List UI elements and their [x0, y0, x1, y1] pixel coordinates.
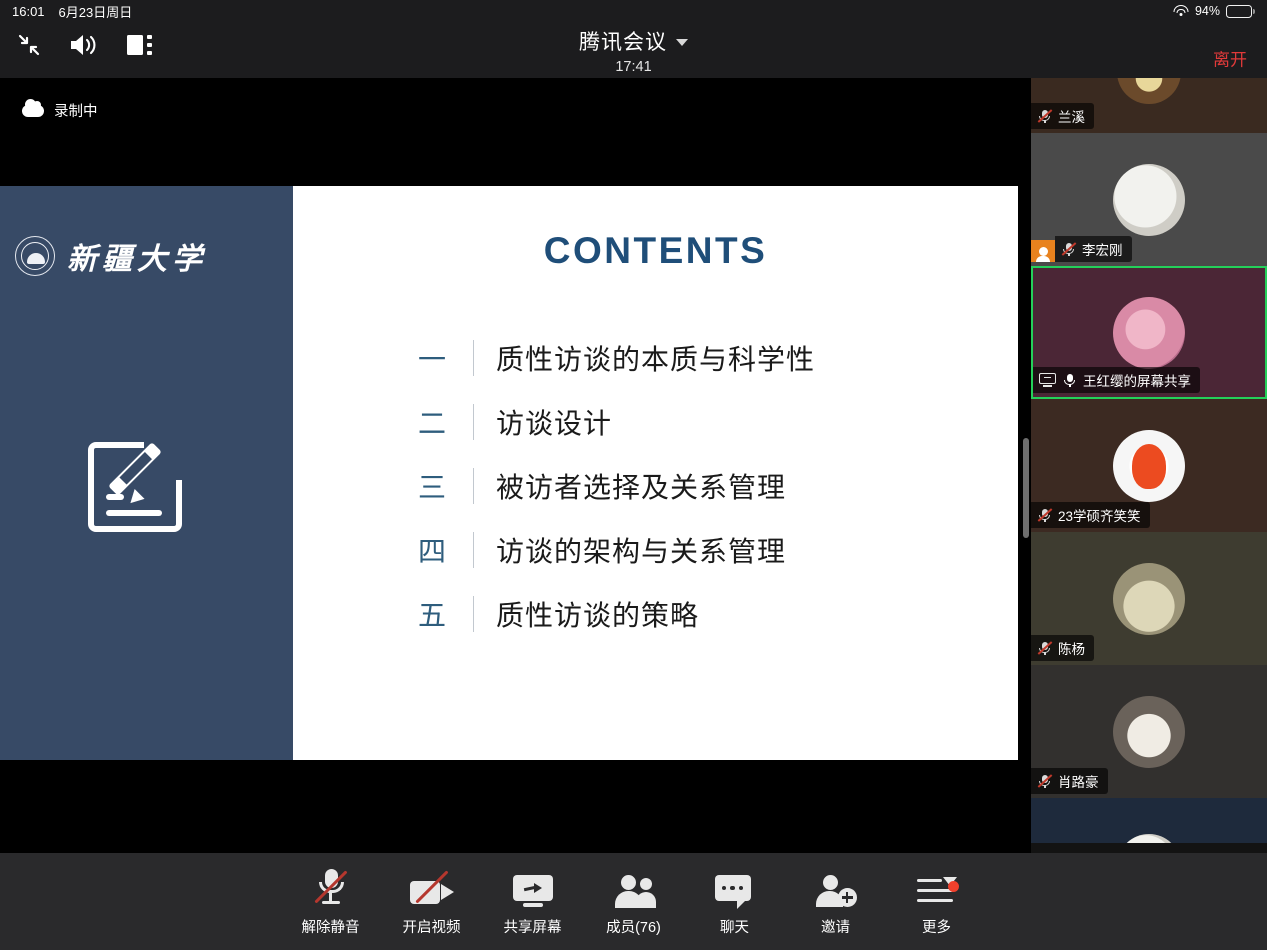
avatar: [1117, 78, 1181, 104]
participant-name: 23学硕齐笑笑: [1058, 505, 1141, 525]
avatar: [1117, 834, 1181, 843]
invite-icon: [815, 867, 857, 907]
avatar: [1113, 164, 1185, 236]
participants-icon: [612, 867, 656, 907]
meeting-title-block: 腾讯会议 17:41: [0, 26, 1267, 75]
toc-item: 一 质性访谈的本质与科学性: [411, 338, 815, 378]
avatar: [1113, 696, 1185, 768]
wifi-icon: [1173, 5, 1189, 17]
toc-divider: [473, 468, 474, 504]
participant-tile[interactable]: 王红缨的屏幕共享: [1031, 266, 1267, 399]
status-date: 6月23日周日: [59, 2, 133, 21]
mic-active-icon: [1062, 373, 1077, 388]
toc-label: 被访者选择及关系管理: [496, 466, 786, 506]
presentation-slide: 新疆大学 CONTENTS 一 质性访谈的本质与科学性: [0, 186, 1018, 760]
battery-percent-label: 94%: [1195, 4, 1220, 18]
slide-body: CONTENTS 一 质性访谈的本质与科学性 二 访谈设计 三: [293, 186, 1018, 760]
toc-item: 五 质性访谈的策略: [411, 594, 815, 634]
toc-divider: [473, 596, 474, 632]
mic-muted-icon: [1037, 641, 1052, 656]
toc-label: 质性访谈的本质与科学性: [496, 338, 815, 378]
shared-screen-area[interactable]: 录制中 新疆大学 CONTENTS: [0, 78, 1031, 853]
unmute-label: 解除静音: [302, 916, 360, 937]
status-time: 16:01: [12, 4, 45, 19]
toc-divider: [473, 340, 474, 376]
participant-name-bar: 陈杨: [1031, 635, 1094, 661]
participant-name-bar: 李宏刚: [1055, 236, 1132, 262]
toc-number: 一: [411, 338, 453, 378]
toc-item: 四 访谈的架构与关系管理: [411, 530, 815, 570]
slide-contents-list: 一 质性访谈的本质与科学性 二 访谈设计 三 被访者选择及关系管理: [411, 338, 815, 634]
university-logo: 新疆大学: [15, 234, 207, 278]
recording-indicator: 录制中: [22, 100, 98, 121]
unmute-button[interactable]: 解除静音: [280, 867, 381, 937]
participant-rail[interactable]: 兰溪李宏刚王红缨的屏幕共享23学硕齐笑笑陈杨肖路豪: [1031, 78, 1267, 853]
mic-muted-icon: [1061, 242, 1076, 257]
status-right: 94%: [1173, 4, 1255, 18]
cloud-icon: [22, 105, 44, 117]
more-notification-badge: [948, 881, 959, 892]
screen-share-icon: [511, 867, 555, 907]
slide-title: CONTENTS: [293, 230, 1018, 272]
speaker-icon[interactable]: [68, 32, 100, 58]
toc-number: 五: [411, 594, 453, 634]
avatar: [1113, 563, 1185, 635]
chat-icon: [715, 867, 755, 907]
participant-name-bar: 兰溪: [1031, 103, 1094, 129]
toc-label: 访谈设计: [496, 402, 612, 442]
participant-tile[interactable]: 陈杨: [1031, 532, 1267, 665]
toc-label: 质性访谈的策略: [496, 594, 699, 634]
participant-name: 肖路豪: [1058, 771, 1099, 791]
participant-name: 兰溪: [1058, 106, 1085, 126]
meeting-app: 16:01 6月23日周日 94%: [0, 0, 1267, 950]
meeting-header: 腾讯会议 17:41 离开: [0, 22, 1267, 78]
header-icon-group: [16, 32, 154, 58]
meeting-title: 腾讯会议: [579, 26, 667, 56]
more-button[interactable]: 更多: [886, 867, 987, 937]
participant-tile[interactable]: 肖路豪: [1031, 665, 1267, 798]
invite-label: 邀请: [821, 916, 850, 937]
recording-label: 录制中: [54, 100, 98, 121]
toc-divider: [473, 532, 474, 568]
invite-button[interactable]: 邀请: [785, 867, 886, 937]
meeting-elapsed-time: 17:41: [0, 59, 1267, 75]
avatar: [1113, 430, 1185, 502]
avatar: [1113, 297, 1185, 369]
bottom-toolbar: 解除静音 开启视频 共享屏幕 成员(76) 聊天: [0, 853, 1267, 950]
battery-icon: [1226, 5, 1255, 18]
toc-number: 四: [411, 530, 453, 570]
university-name: 新疆大学: [67, 234, 207, 278]
slide-sidebar: 新疆大学: [0, 186, 293, 760]
participant-tile[interactable]: 李宏刚: [1031, 133, 1267, 266]
participant-name: 王红缨的屏幕共享: [1083, 370, 1191, 390]
toc-item: 三 被访者选择及关系管理: [411, 466, 815, 506]
share-screen-button[interactable]: 共享屏幕: [482, 867, 583, 937]
participants-label: 成员(76): [606, 916, 661, 937]
start-video-button[interactable]: 开启视频: [381, 867, 482, 937]
status-bar: 16:01 6月23日周日 94%: [0, 0, 1267, 22]
chat-button[interactable]: 聊天: [684, 867, 785, 937]
shared-screen-scrollbar[interactable]: [1023, 438, 1029, 538]
camera-off-icon: [410, 867, 454, 907]
participant-tile[interactable]: 兰溪: [1031, 78, 1267, 133]
participant-tile[interactable]: 23学硕齐笑笑: [1031, 399, 1267, 532]
host-badge: [1031, 240, 1055, 262]
toc-number: 二: [411, 402, 453, 442]
toc-item: 二 访谈设计: [411, 402, 815, 442]
collapse-arrows-icon[interactable]: [16, 32, 42, 58]
chevron-down-icon[interactable]: [676, 39, 688, 46]
mic-muted-icon: [1037, 508, 1052, 523]
note-edit-icon: [88, 436, 192, 532]
mic-muted-icon: [1037, 774, 1052, 789]
participant-name: 陈杨: [1058, 638, 1085, 658]
toc-label: 访谈的架构与关系管理: [496, 530, 786, 570]
participants-button[interactable]: 成员(76): [583, 867, 684, 937]
layout-view-icon[interactable]: [126, 33, 154, 57]
leave-button[interactable]: 离开: [1213, 46, 1247, 71]
share-screen-label: 共享屏幕: [504, 916, 562, 937]
mic-off-icon: [312, 867, 350, 907]
participant-name-bar: 肖路豪: [1031, 768, 1108, 794]
chat-label: 聊天: [720, 916, 749, 937]
more-label: 更多: [922, 916, 951, 937]
start-video-label: 开启视频: [403, 916, 461, 937]
toc-number: 三: [411, 466, 453, 506]
screen-share-indicator-icon: [1039, 373, 1056, 387]
participant-name-bar: 23学硕齐笑笑: [1031, 502, 1150, 528]
university-seal-icon: [15, 236, 55, 276]
participant-tile[interactable]: [1031, 798, 1267, 843]
participant-name: 李宏刚: [1082, 239, 1123, 259]
toc-divider: [473, 404, 474, 440]
mic-muted-icon: [1037, 109, 1052, 124]
participant-name-bar: 王红缨的屏幕共享: [1033, 367, 1200, 393]
status-left: 16:01 6月23日周日: [12, 2, 132, 21]
